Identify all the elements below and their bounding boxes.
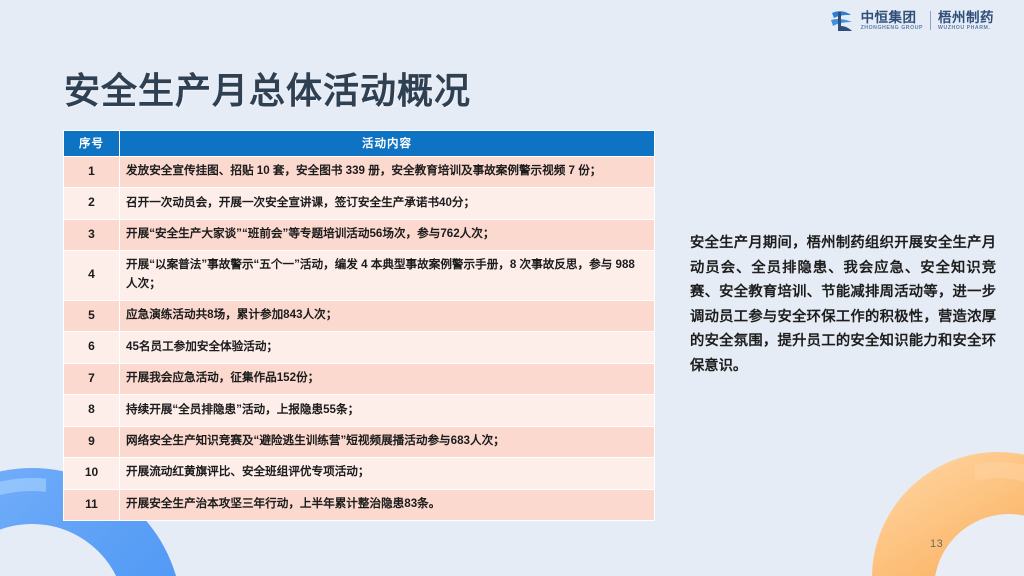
- cell-activity-content: 45名员工参加安全体验活动；: [120, 332, 655, 363]
- table-row: 10开展流动红黄旗评比、安全班组评优专项活动；: [64, 458, 655, 489]
- decorative-orange-ring-hole: [934, 514, 1024, 576]
- logo-wuzhou-en: WUZHOU PHARM.: [938, 26, 994, 31]
- decorative-orange-ring-highlight: [882, 462, 1024, 576]
- table-row: 3开展“安全生产大家谈”“班前会”等专题培训活动56场次，参与762人次；: [64, 219, 655, 250]
- cell-activity-content: 应急演练活动共8场，累计参加843人次；: [120, 300, 655, 331]
- cell-row-number: 2: [64, 188, 120, 219]
- column-header-no: 序号: [64, 131, 120, 157]
- table-row: 2召开一次动员会，开展一次安全宣讲课，签订安全生产承诺书40分；: [64, 188, 655, 219]
- logo-block-wuzhou: 梧州制药 WUZHOU PHARM.: [938, 11, 994, 32]
- cell-row-number: 6: [64, 332, 120, 363]
- activity-table: 序号 活动内容 1发放安全宣传挂图、招贴 10 套，安全图书 339 册，安全教…: [63, 130, 655, 521]
- cell-activity-content: 开展我会应急活动，征集作品152份；: [120, 363, 655, 394]
- slide-canvas: 中恒集团 ZHONGHENG GROUP 梧州制药 WUZHOU PHARM. …: [0, 0, 1024, 576]
- table-row: 9网络安全生产知识竞赛及“避险逃生训练营”短视频展播活动参与683人次；: [64, 426, 655, 457]
- company-logo: 中恒集团 ZHONGHENG GROUP 梧州制药 WUZHOU PHARM.: [829, 9, 994, 33]
- cell-row-number: 8: [64, 395, 120, 426]
- table-row: 11开展安全生产治本攻坚三年行动，上半年累计整治隐患83条。: [64, 489, 655, 520]
- summary-paragraph: 安全生产月期间，梧州制药组织开展安全生产月动员会、全员排隐患、我会应急、安全知识…: [690, 231, 996, 378]
- cell-row-number: 5: [64, 300, 120, 331]
- table-header-row: 序号 活动内容: [64, 131, 655, 157]
- table-row: 7开展我会应急活动，征集作品152份；: [64, 363, 655, 394]
- cell-activity-content: 开展安全生产治本攻坚三年行动，上半年累计整治隐患83条。: [120, 489, 655, 520]
- zhongheng-logo-mark-icon: [829, 9, 855, 33]
- logo-divider: [930, 11, 931, 30]
- table-head: 序号 活动内容: [64, 131, 655, 157]
- table-row: 645名员工参加安全体验活动；: [64, 332, 655, 363]
- page-number: 13: [930, 538, 943, 550]
- table-row: 4开展“以案普法”事故警示“五个一”活动，编发 4 本典型事故案例警示手册，8 …: [64, 251, 655, 301]
- table-row: 1发放安全宣传挂图、招贴 10 套，安全图书 339 册，安全教育培训及事故案例…: [64, 157, 655, 188]
- cell-row-number: 11: [64, 489, 120, 520]
- logo-wuzhou-cn: 梧州制药: [938, 11, 994, 25]
- logo-zhongheng-en: ZHONGHENG GROUP: [861, 26, 923, 31]
- cell-activity-content: 开展“以案普法”事故警示“五个一”活动，编发 4 本典型事故案例警示手册，8 次…: [120, 251, 655, 301]
- decorative-orange-ring: [872, 452, 1024, 576]
- logo-wordmark: 中恒集团 ZHONGHENG GROUP 梧州制药 WUZHOU PHARM.: [861, 11, 994, 32]
- table-row: 5应急演练活动共8场，累计参加843人次；: [64, 300, 655, 331]
- decorative-blue-ring-hole: [0, 524, 126, 576]
- cell-row-number: 10: [64, 458, 120, 489]
- cell-activity-content: 发放安全宣传挂图、招贴 10 套，安全图书 339 册，安全教育培训及事故案例警…: [120, 157, 655, 188]
- logo-block-zhongheng: 中恒集团 ZHONGHENG GROUP: [861, 11, 923, 32]
- cell-row-number: 9: [64, 426, 120, 457]
- cell-activity-content: 召开一次动员会，开展一次安全宣讲课，签订安全生产承诺书40分；: [120, 188, 655, 219]
- cell-activity-content: 持续开展“全员排隐患”活动，上报隐患55条；: [120, 395, 655, 426]
- table-body: 1发放安全宣传挂图、招贴 10 套，安全图书 339 册，安全教育培训及事故案例…: [64, 157, 655, 521]
- cell-activity-content: 开展“安全生产大家谈”“班前会”等专题培训活动56场次，参与762人次；: [120, 219, 655, 250]
- cell-row-number: 3: [64, 219, 120, 250]
- cell-row-number: 4: [64, 251, 120, 301]
- logo-zhongheng-cn: 中恒集团: [861, 11, 923, 25]
- cell-activity-content: 网络安全生产知识竞赛及“避险逃生训练营”短视频展播活动参与683人次；: [120, 426, 655, 457]
- column-header-content: 活动内容: [120, 131, 655, 157]
- cell-row-number: 1: [64, 157, 120, 188]
- page-title: 安全生产月总体活动概况: [64, 62, 471, 114]
- table-row: 8持续开展“全员排隐患”活动，上报隐患55条；: [64, 395, 655, 426]
- cell-activity-content: 开展流动红黄旗评比、安全班组评优专项活动；: [120, 458, 655, 489]
- cell-row-number: 7: [64, 363, 120, 394]
